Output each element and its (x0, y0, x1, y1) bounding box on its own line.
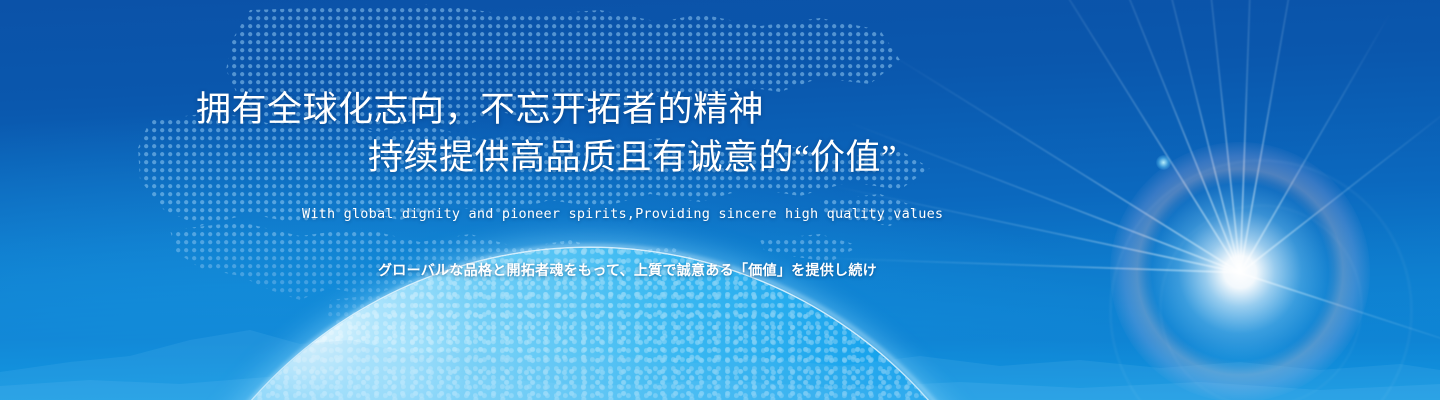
subtitle-japanese: グローバルな品格と開拓者魂をもって、上質で誠意ある「価値」を提供し続け (378, 260, 877, 280)
page-title: 拥有全球化志向，不忘开拓者的精神 持续提供高品质且有诚意的“价值” (196, 86, 897, 182)
headline-line-1: 拥有全球化志向，不忘开拓者的精神 (196, 90, 764, 129)
headline-line-2: 持续提供高品质且有诚意的“价值” (196, 134, 897, 182)
banner-copy: 拥有全球化志向，不忘开拓者的精神 持续提供高品质且有诚意的“价值” With g… (0, 0, 1060, 400)
lens-flare-dot-icon (1156, 155, 1171, 170)
hero-banner: 拥有全球化志向，不忘开拓者的精神 持续提供高品质且有诚意的“价值” With g… (0, 0, 1440, 400)
subtitle-english: With global dignity and pioneer spirits,… (302, 206, 943, 222)
